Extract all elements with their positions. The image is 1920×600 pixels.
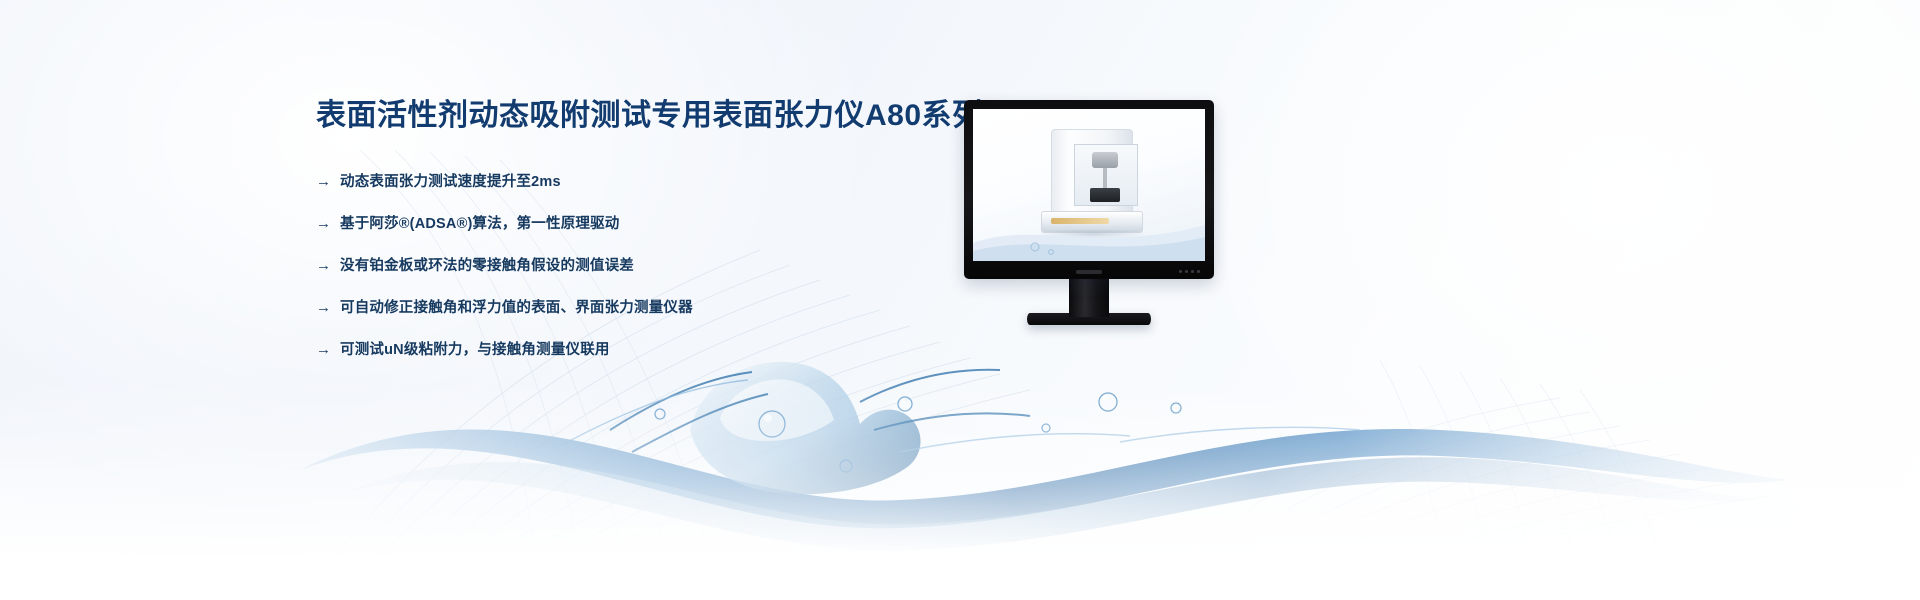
monitor-stand-neck	[1069, 279, 1109, 317]
arrow-icon: →	[316, 341, 331, 359]
list-item: → 没有铂金板或环法的零接触角假设的测值误差	[316, 257, 956, 275]
instrument-stage	[1090, 188, 1120, 202]
arrow-icon: →	[316, 299, 331, 317]
instrument-probe	[1103, 168, 1107, 190]
list-item-label: 可自动修正接触角和浮力值的表面、界面张力测量仪器	[340, 299, 693, 317]
monitor-screen	[973, 109, 1205, 261]
list-item-label: 基于阿莎®(ADSA®)算法，第一性原理驱动	[340, 215, 620, 233]
monitor-bezel	[964, 100, 1214, 279]
product-banner: 表面活性剂动态吸附测试专用表面张力仪A80系列 → 动态表面张力测试速度提升至2…	[0, 0, 1920, 600]
list-item: → 基于阿莎®(ADSA®)算法，第一性原理驱动	[316, 215, 956, 233]
list-item-label: 没有铂金板或环法的零接触角假设的测值误差	[340, 257, 634, 275]
feature-list: → 动态表面张力测试速度提升至2ms → 基于阿莎®(ADSA®)算法，第一性原…	[316, 173, 956, 359]
list-item: → 动态表面张力测试速度提升至2ms	[316, 173, 956, 191]
arrow-icon: →	[316, 257, 331, 275]
arrow-icon: →	[316, 215, 331, 233]
monitor-indicator-leds	[1179, 270, 1200, 273]
bottom-fade-overlay	[0, 380, 1920, 600]
list-item-label: 可测试uN级粘附力，与接触角测量仪联用	[340, 341, 610, 359]
monitor-chin	[964, 261, 1214, 279]
monitor-brand-logo	[1076, 270, 1102, 274]
page-title: 表面活性剂动态吸附测试专用表面张力仪A80系列	[316, 96, 956, 136]
list-item-label: 动态表面张力测试速度提升至2ms	[340, 173, 561, 191]
screen-wave-graphic	[973, 203, 1205, 261]
arrow-icon: →	[316, 173, 331, 191]
list-item: → 可测试uN级粘附力，与接触角测量仪联用	[316, 341, 956, 359]
list-item: → 可自动修正接触角和浮力值的表面、界面张力测量仪器	[316, 299, 956, 317]
banner-copy: 表面活性剂动态吸附测试专用表面张力仪A80系列 → 动态表面张力测试速度提升至2…	[316, 96, 956, 383]
instrument-sample-cup	[1092, 152, 1118, 168]
product-monitor-image	[964, 100, 1214, 325]
